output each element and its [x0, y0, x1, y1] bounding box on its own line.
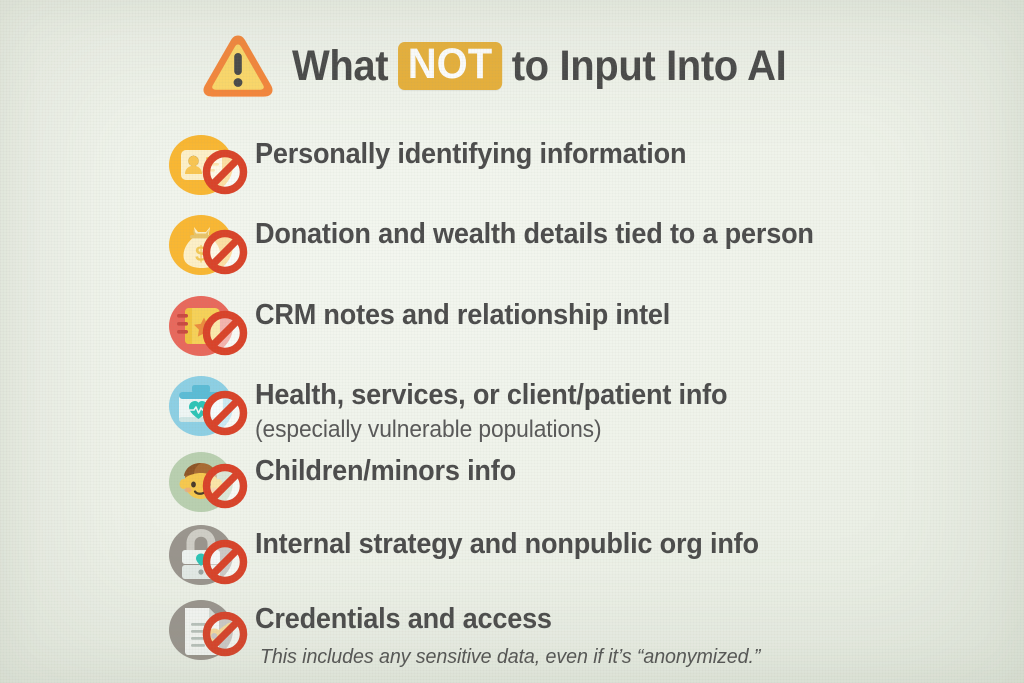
- title-after: to Input Into AI: [512, 42, 787, 91]
- list-item: $ Donation and wealth details tied to a …: [163, 213, 1013, 281]
- item-label: Children/minors info: [255, 456, 975, 488]
- item-text-block: Health, services, or client/patient info…: [255, 374, 1013, 445]
- document-key-icon: [163, 594, 255, 666]
- list-item: Internal strategy and nonpublic org info: [163, 523, 1013, 591]
- list-item: Children/minors info: [163, 450, 1013, 518]
- prohibition-sign-icon: [207, 234, 244, 271]
- prohibition-sign-icon: [207, 315, 244, 352]
- item-icon-badge: [163, 129, 255, 201]
- item-label: Internal strategy and nonpublic org info: [255, 529, 975, 561]
- title-highlight-not: NOT: [398, 42, 503, 91]
- list-item: Personally identifying information: [163, 133, 1013, 201]
- item-icon-badge: $: [163, 209, 255, 281]
- item-label: Personally identifying information: [255, 139, 975, 171]
- slide-canvas: What NOT to Input Into AI: [0, 0, 1024, 683]
- item-text-block: Internal strategy and nonpublic org info: [255, 523, 1013, 561]
- item-label: CRM notes and relationship intel: [255, 300, 975, 332]
- item-text-block: Personally identifying information: [255, 133, 1013, 171]
- item-label: Health, services, or client/patient info: [255, 380, 975, 412]
- prohibition-sign-icon: [207, 615, 244, 652]
- prohibition-sign-icon: [207, 543, 244, 580]
- child-face-icon: [163, 446, 255, 518]
- item-icon-badge: [163, 290, 255, 362]
- item-icon-badge: [163, 594, 255, 666]
- prohibition-sign-icon: [207, 395, 244, 432]
- title-before: What: [292, 42, 388, 91]
- prohibition-sign-icon: [207, 154, 244, 191]
- address-book-icon: [163, 290, 255, 362]
- item-icon-badge: [163, 446, 255, 518]
- item-icon-badge: [163, 370, 255, 442]
- warning-triangle-icon: [200, 30, 276, 102]
- padlock-icon: [163, 519, 255, 591]
- item-label: Donation and wealth details tied to a pe…: [255, 219, 975, 251]
- medical-bag-icon: [163, 370, 255, 442]
- prohibition-sign-icon: [207, 467, 244, 504]
- item-sublabel: (especially vulnerable populations): [255, 415, 975, 445]
- money-bag-icon: $: [163, 209, 255, 281]
- item-text-block: Children/minors info: [255, 450, 1013, 488]
- list-item: Health, services, or client/patient info…: [163, 374, 1013, 445]
- item-label: Credentials and access: [255, 604, 975, 636]
- prohibited-items-list: Personally identifying information $: [163, 133, 1013, 666]
- id-card-icon: [163, 129, 255, 201]
- page-title: What NOT to Input Into AI: [292, 42, 786, 91]
- footer-note: This includes any sensitive data, even i…: [260, 645, 760, 669]
- item-text-block: CRM notes and relationship intel: [255, 294, 1013, 332]
- item-icon-badge: [163, 519, 255, 591]
- item-text-block: Donation and wealth details tied to a pe…: [255, 213, 1013, 251]
- item-text-block: Credentials and access: [255, 598, 1013, 636]
- list-item: CRM notes and relationship intel: [163, 294, 1013, 362]
- slide-header: What NOT to Input Into AI: [0, 30, 1024, 102]
